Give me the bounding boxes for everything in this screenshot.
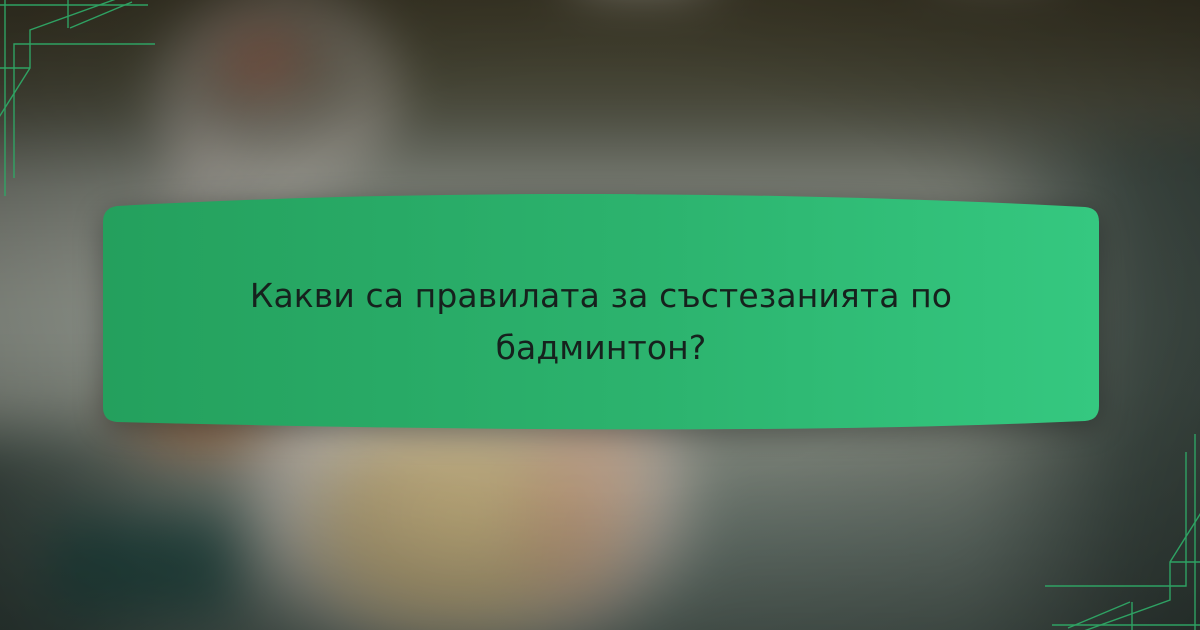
question-text: Какви са правилата за състезанията по ба… — [160, 270, 1042, 374]
screenshot-root: Какви са правилата за състезанията по ба… — [0, 0, 1200, 630]
question-card: Какви са правилата за състезанията по ба… — [100, 192, 1102, 436]
